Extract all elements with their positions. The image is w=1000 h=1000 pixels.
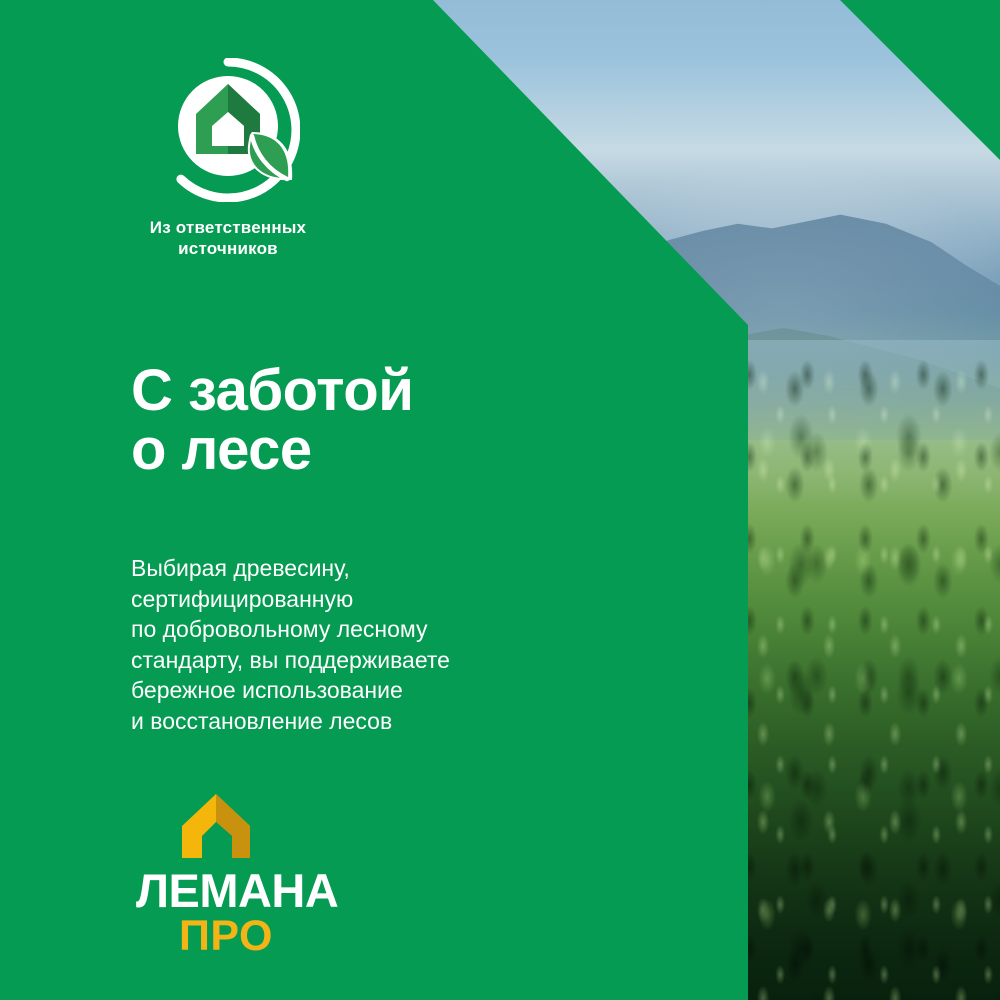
badge-caption: Из ответственных источников	[128, 218, 328, 259]
headline: С заботой о лесе	[131, 361, 413, 479]
lemana-house-icon	[180, 792, 252, 860]
poster-canvas: Из ответственных источников С заботой о …	[0, 0, 1000, 1000]
lemana-pro-logo: ЛЕМАНА ПРО	[136, 792, 316, 958]
body-copy: Выбирая древесину, сертифицированную по …	[131, 553, 551, 736]
brand-name: ЛЕМАНА	[136, 868, 316, 913]
responsible-sources-badge: Из ответственных источников	[128, 58, 328, 259]
house-leaf-circle-icon	[156, 58, 300, 202]
brand-sub: ПРО	[136, 915, 316, 958]
